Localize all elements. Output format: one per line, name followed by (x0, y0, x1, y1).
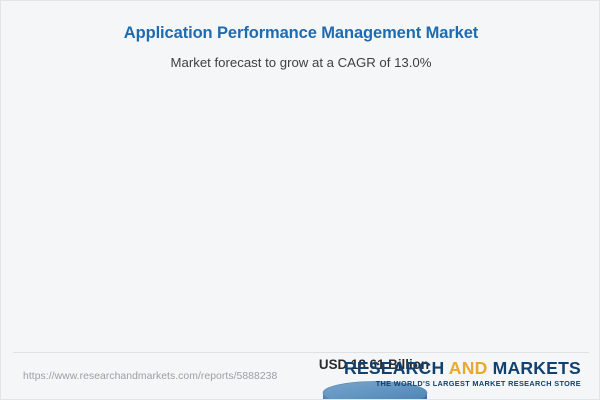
brand-word-markets: MARKETS (488, 358, 581, 378)
brand-wordmark: RESEARCH AND MARKETS (344, 359, 581, 377)
page-title: Application Performance Management Marke… (1, 24, 600, 43)
brand-word-research: RESEARCH (344, 358, 449, 378)
brand-tagline: THE WORLD'S LARGEST MARKET RESEARCH STOR… (344, 379, 581, 388)
chart-subtitle: Market forecast to grow at a CAGR of 13.… (1, 55, 600, 70)
brand-logo[interactable]: RESEARCH AND MARKETS THE WORLD'S LARGEST… (344, 359, 581, 388)
chart-plot-area: USD 7.94 Billion (1, 81, 600, 343)
report-url[interactable]: https://www.researchandmarkets.com/repor… (23, 371, 277, 382)
infographic-canvas: Application Performance Management Marke… (0, 0, 600, 400)
footer-divider (13, 352, 589, 353)
brand-word-and: AND (449, 358, 488, 378)
